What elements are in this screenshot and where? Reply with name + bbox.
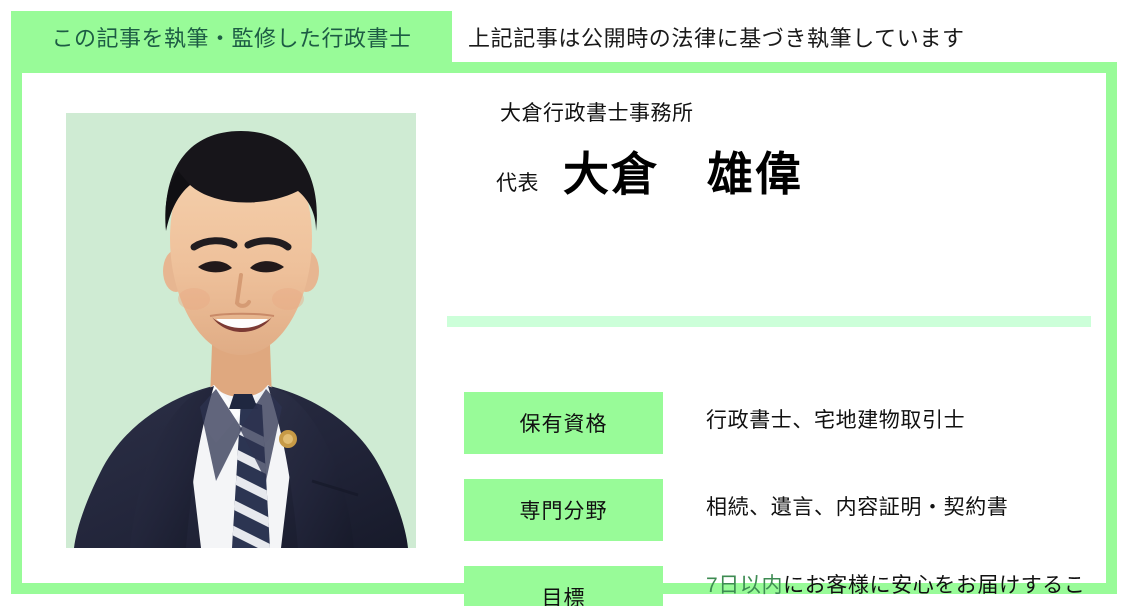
office-name: 大倉行政書士事務所 <box>500 97 1094 127</box>
table-row: 専門分野 相続、遺言、内容証明・契約書 <box>464 479 1104 541</box>
portrait-illustration <box>66 113 416 548</box>
header-tab: この記事を執筆・監修した行政書士 <box>11 11 452 62</box>
representative-role: 代表 <box>496 167 539 197</box>
row-value-specialties: 相続、遺言、内容証明・契約書 <box>663 479 1104 525</box>
section-divider <box>447 316 1091 327</box>
row-label-goal: 目標 <box>464 566 663 606</box>
header-note-label: 上記記事は公開時の法律に基づき執筆しています <box>468 21 965 53</box>
row-value-qualifications: 行政書士、宅地建物取引士 <box>663 392 1104 438</box>
profile-details: 大倉行政書士事務所 代表 大倉 雄偉 保有資格 行政書士、宅地建物取引士 専門分… <box>436 97 1094 573</box>
row-label-specialties: 専門分野 <box>464 479 663 541</box>
table-row: 目標 7日以内にお客様に安心をお届けすること <box>464 566 1104 606</box>
qualification-table: 保有資格 行政書士、宅地建物取引士 専門分野 相続、遺言、内容証明・契約書 目標… <box>464 392 1104 606</box>
representative-name: 大倉 雄偉 <box>563 151 803 197</box>
goal-highlight: 7日以内 <box>706 574 783 597</box>
card-frame: 大倉行政書士事務所 代表 大倉 雄偉 保有資格 行政書士、宅地建物取引士 専門分… <box>11 62 1117 594</box>
card-body: 大倉行政書士事務所 代表 大倉 雄偉 保有資格 行政書士、宅地建物取引士 専門分… <box>22 73 1106 583</box>
header-note: 上記記事は公開時の法律に基づき執筆しています <box>468 11 965 62</box>
row-value-goal: 7日以内にお客様に安心をお届けすること <box>663 566 1104 606</box>
profile-photo <box>66 113 416 548</box>
profile-card-root: この記事を執筆・監修した行政書士 上記記事は公開時の法律に基づき執筆しています <box>0 0 1128 606</box>
table-row: 保有資格 行政書士、宅地建物取引士 <box>464 392 1104 454</box>
header-tab-label: この記事を執筆・監修した行政書士 <box>51 21 411 53</box>
representative-name-row: 代表 大倉 雄偉 <box>496 151 1094 197</box>
row-label-qualifications: 保有資格 <box>464 392 663 454</box>
